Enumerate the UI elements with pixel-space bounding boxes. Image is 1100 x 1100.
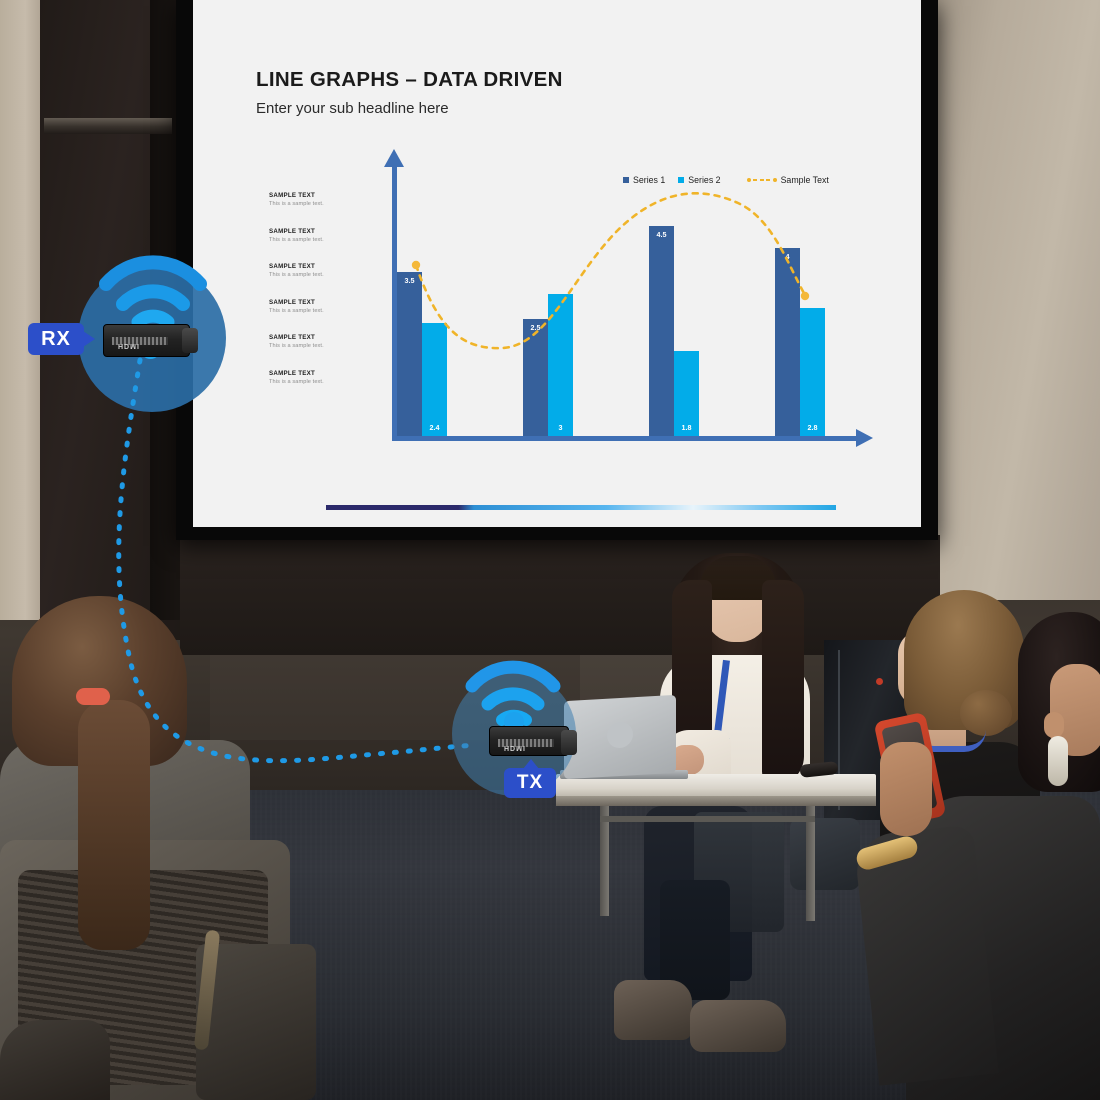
wifi-signal-icon-rx xyxy=(78,228,228,338)
list-item: SAMPLE TEXT This is a sample text. xyxy=(269,334,355,349)
presenter-shoe-right xyxy=(690,1000,786,1052)
audience-left-hair-tie xyxy=(76,688,110,705)
bullet-body: This is a sample text. xyxy=(269,343,355,349)
bar-chart: Series 1 Series 2 Sample Text xyxy=(368,155,873,455)
audience-far-right-hand xyxy=(880,742,932,836)
list-item: SAMPLE TEXT This is a sample text. xyxy=(269,299,355,314)
bullet-heading: SAMPLE TEXT xyxy=(269,370,355,377)
slide-footer-bar xyxy=(326,505,836,510)
audience-left-ponytail xyxy=(78,700,150,950)
hdmi-dongle-rx: HDMI xyxy=(103,324,190,357)
bar-label: 3.5 xyxy=(397,276,422,285)
bullet-body: This is a sample text. xyxy=(269,237,355,243)
list-item: SAMPLE TEXT This is a sample text. xyxy=(269,228,355,243)
bar-group-3: 4.5 1.8 xyxy=(649,163,705,436)
bullet-heading: SAMPLE TEXT xyxy=(269,228,355,235)
desk-leg-left xyxy=(600,806,609,916)
list-item: SAMPLE TEXT This is a sample text. xyxy=(269,192,355,207)
presentation-slide: LINE GRAPHS – DATA DRIVEN Enter your sub… xyxy=(193,0,921,527)
bullet-body: This is a sample text. xyxy=(269,379,355,385)
presenter-shoe-left xyxy=(614,980,692,1040)
bar-series2-3: 1.8 xyxy=(674,351,699,436)
bar-series2-4: 2.8 xyxy=(800,308,825,436)
presenter-hair-right xyxy=(762,580,804,785)
wall-shelf xyxy=(44,118,172,134)
bar-group-2: 2.5 3 xyxy=(523,163,579,436)
x-axis xyxy=(392,436,858,441)
audience-far-right-earring xyxy=(1048,736,1068,786)
projector-screen: LINE GRAPHS – DATA DRIVEN Enter your sub… xyxy=(193,0,921,527)
desk-edge xyxy=(556,796,876,806)
bar-group-1: 3.5 2.4 xyxy=(397,163,453,436)
bar-label: 4 xyxy=(775,252,800,261)
dongle-cap xyxy=(561,730,577,755)
audience-far-right-ear xyxy=(1044,712,1064,738)
right-wall xyxy=(930,0,1100,600)
bar-series1-3: 4.5 xyxy=(649,226,674,436)
dongle-cap xyxy=(182,328,198,353)
bar-series2-1: 2.4 xyxy=(422,323,447,436)
bar-label: 2.5 xyxy=(523,323,548,332)
bullet-body: This is a sample text. xyxy=(269,308,355,314)
bar-label: 2.4 xyxy=(422,423,447,432)
bar-group-4: 4 2.8 xyxy=(775,163,831,436)
rx-label-tag[interactable]: RX xyxy=(28,323,84,355)
dongle-label: HDMI xyxy=(504,744,526,751)
bar-series1-1: 3.5 xyxy=(397,272,422,436)
dongle-label: HDMI xyxy=(118,342,140,349)
rack-led-icon xyxy=(876,678,883,685)
screenshot-root: LINE GRAPHS – DATA DRIVEN Enter your sub… xyxy=(0,0,1100,1100)
spare-chair xyxy=(790,818,860,890)
audience-left-leg xyxy=(0,1020,110,1100)
list-item: SAMPLE TEXT This is a sample text. xyxy=(269,263,355,278)
bullet-body: This is a sample text. xyxy=(269,201,355,207)
slide-subtitle: Enter your sub headline here xyxy=(256,100,449,117)
bar-label: 4.5 xyxy=(649,230,674,239)
bullet-heading: SAMPLE TEXT xyxy=(269,192,355,199)
bar-series2-2: 3 xyxy=(548,294,573,436)
list-item: SAMPLE TEXT This is a sample text. xyxy=(269,370,355,385)
bar-label: 1.8 xyxy=(674,423,699,432)
bar-series1-4: 4 xyxy=(775,248,800,436)
bar-label: 2.8 xyxy=(800,423,825,432)
hdmi-dongle-tx: HDMI xyxy=(489,726,569,756)
desk-leg-right xyxy=(806,806,815,921)
tx-label-tag[interactable]: TX xyxy=(504,768,556,798)
bar-label: 3 xyxy=(548,423,573,432)
slide-title: LINE GRAPHS – DATA DRIVEN xyxy=(256,68,563,92)
chart-bars: 3.5 2.4 2.5 3 xyxy=(397,163,847,436)
bullet-body: This is a sample text. xyxy=(269,272,355,278)
bullet-heading: SAMPLE TEXT xyxy=(269,263,355,270)
bullet-heading: SAMPLE TEXT xyxy=(269,299,355,306)
bullet-heading: SAMPLE TEXT xyxy=(269,334,355,341)
x-axis-arrow-icon xyxy=(856,429,873,447)
bar-series1-2: 2.5 xyxy=(523,319,548,436)
desk-rail xyxy=(600,816,815,822)
slide-bullet-list: SAMPLE TEXT This is a sample text. SAMPL… xyxy=(269,192,355,405)
